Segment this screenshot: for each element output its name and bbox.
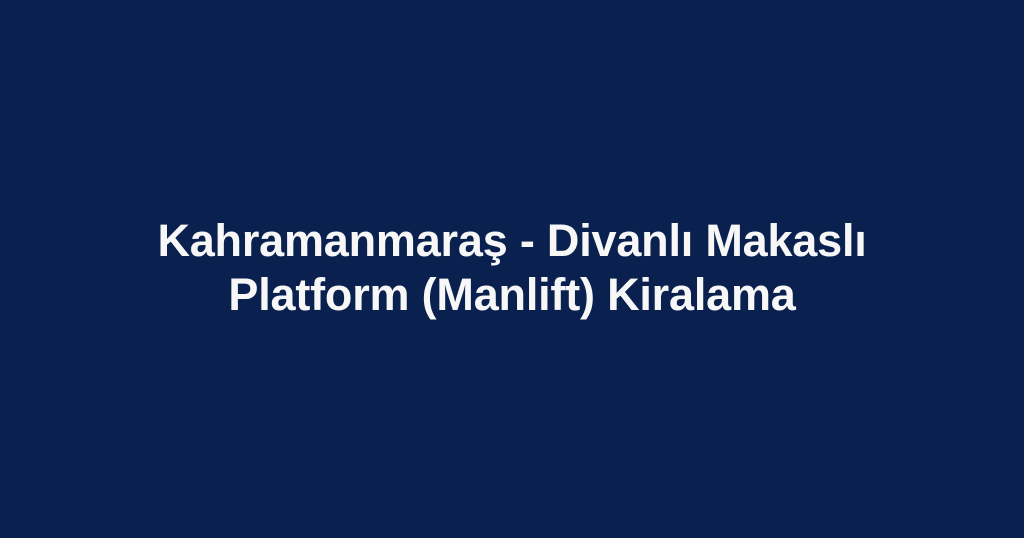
card-content: Kahramanmaraş - Divanlı Makaslı Platform… (140, 214, 884, 322)
link-preview-card: Kahramanmaraş - Divanlı Makaslı Platform… (0, 0, 1024, 538)
page-title: Kahramanmaraş - Divanlı Makaslı Platform… (148, 214, 876, 322)
